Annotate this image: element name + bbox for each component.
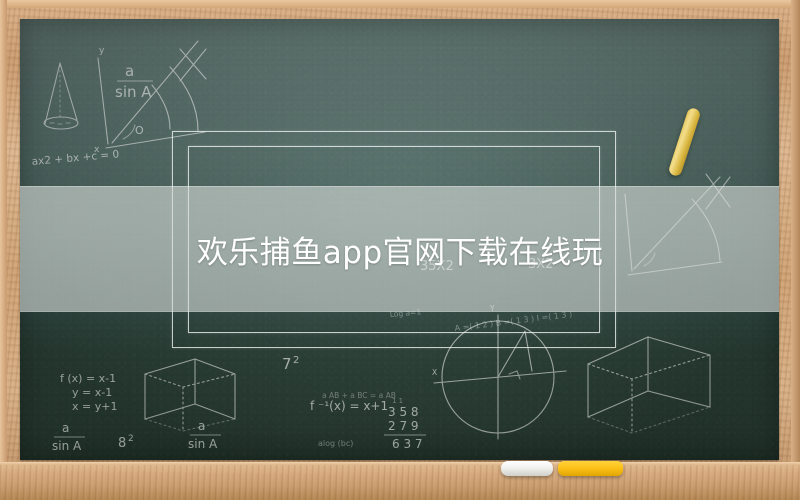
page-title: 欢乐捕鱼app官网下载在线玩 [20, 186, 779, 312]
frame-top-edge [0, 0, 800, 8]
chalkboard: a sin A y x O ax2 + bx +c = 0 f (x) = x-… [20, 19, 779, 460]
frame-right-edge [791, 0, 800, 500]
ledge-top-edge [0, 462, 800, 465]
chalk-ledge [0, 462, 800, 500]
ledge-grain-texture [0, 462, 800, 500]
ledge-chalk-yellow-icon [558, 461, 623, 476]
screenshot-stage: a sin A y x O ax2 + bx +c = 0 f (x) = x-… [0, 0, 800, 500]
translucent-banner: 欢乐捕鱼app官网下载在线玩 [20, 186, 779, 312]
banner-bottom-edge [20, 311, 779, 312]
ledge-chalk-white-icon [501, 461, 553, 476]
frame-left-edge [0, 0, 7, 500]
